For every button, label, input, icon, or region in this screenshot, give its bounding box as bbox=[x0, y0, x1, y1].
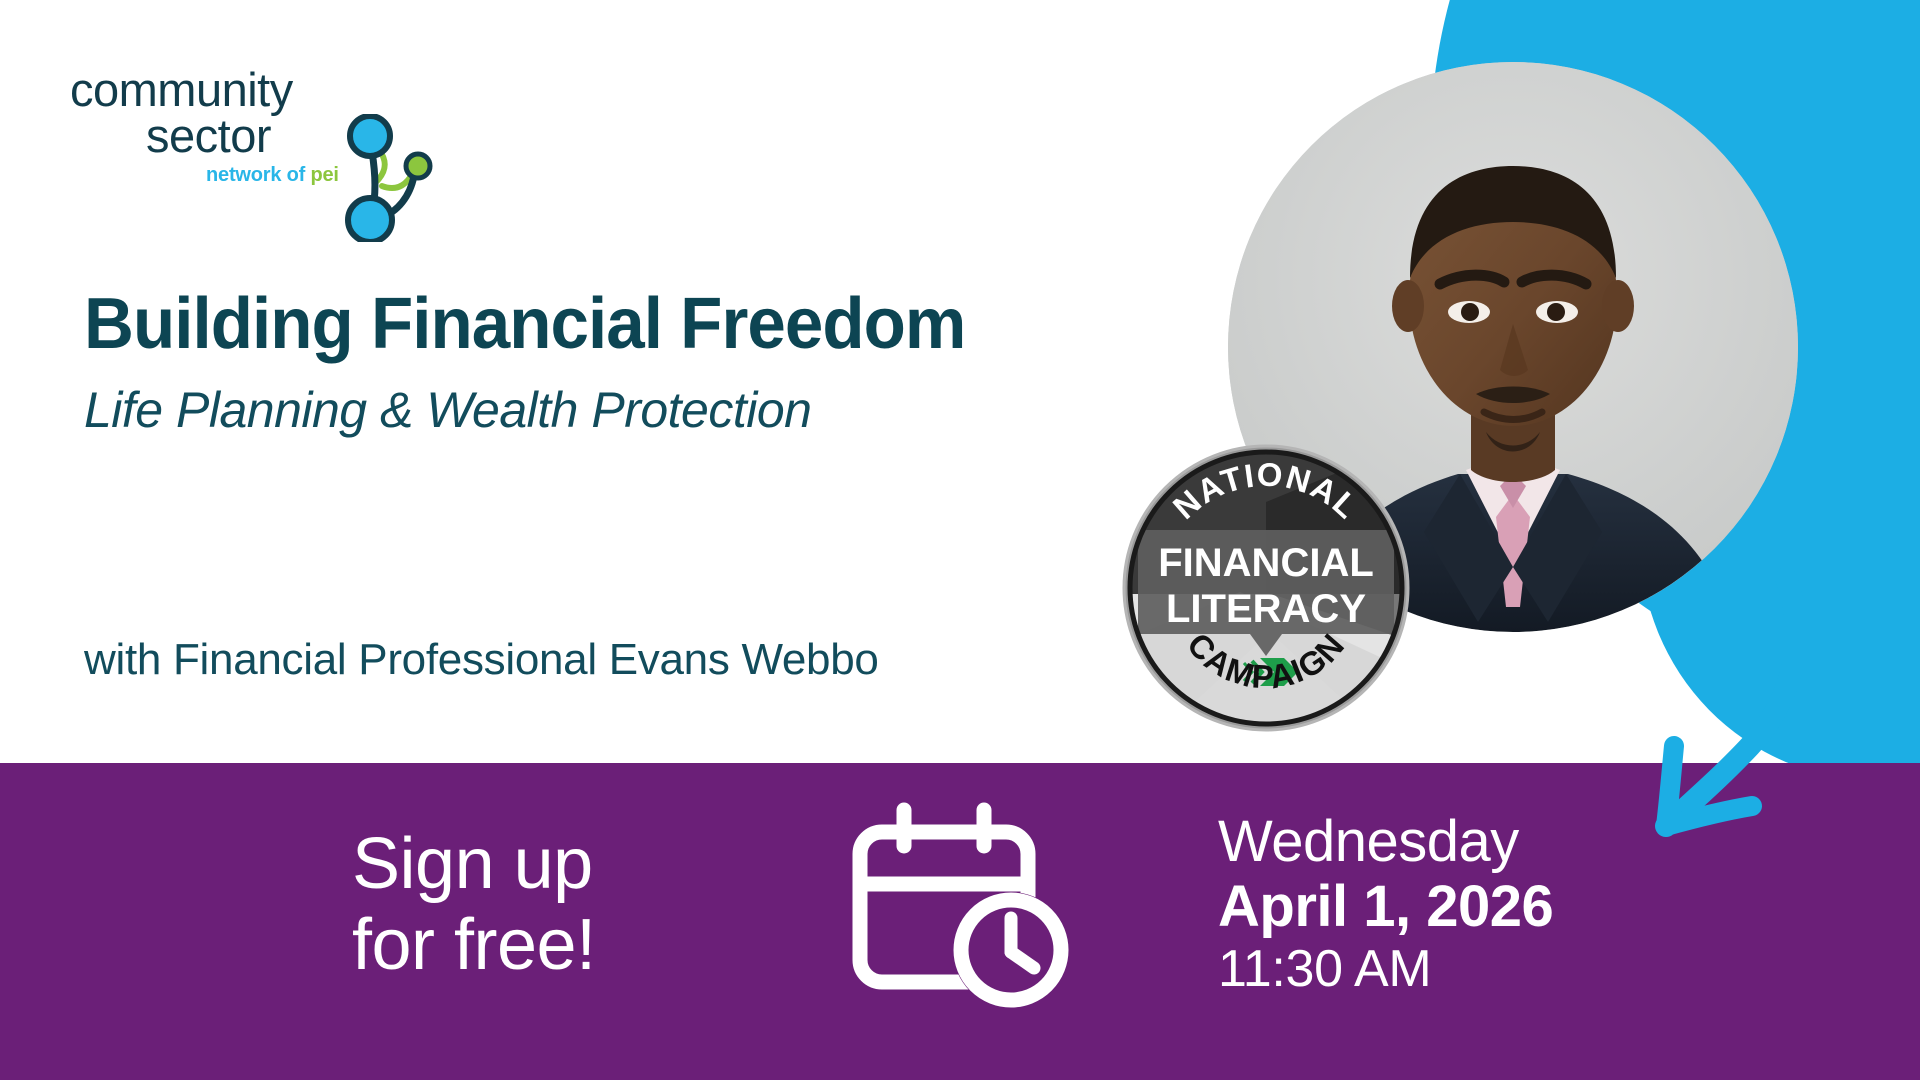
page-subtitle: Life Planning & Wealth Protection bbox=[84, 385, 811, 435]
page-title: Building Financial Freedom bbox=[84, 288, 965, 360]
logo-tagline: network of pei bbox=[206, 164, 339, 187]
event-promo-poster: community sector network of pei Building… bbox=[0, 0, 1920, 1080]
signup-cta-line1: Sign up bbox=[352, 824, 596, 905]
connected-nodes-icon bbox=[342, 114, 442, 247]
signup-cta-line2: for free! bbox=[352, 905, 596, 986]
badge-center-line1: FINANCIAL bbox=[1158, 541, 1374, 585]
organization-logo: community sector network of pei bbox=[66, 52, 446, 202]
event-datetime: Wednesday April 1, 2026 11:30 AM bbox=[1218, 810, 1553, 998]
logo-tagline-network: network of bbox=[206, 164, 310, 186]
event-time: 11:30 AM bbox=[1218, 940, 1553, 998]
presenter-line: with Financial Professional Evans Webbo bbox=[84, 638, 879, 682]
curved-arrow-down-left-icon bbox=[1600, 560, 1920, 865]
calendar-clock-icon bbox=[848, 800, 1078, 1020]
event-day: Wednesday bbox=[1218, 810, 1553, 875]
logo-line-sector: sector bbox=[146, 108, 271, 163]
badge-center-line2: LITERACY bbox=[1166, 587, 1366, 631]
logo-tagline-pei: pei bbox=[310, 164, 338, 186]
signup-cta: Sign up for free! bbox=[352, 824, 596, 987]
event-date: April 1, 2026 bbox=[1218, 875, 1553, 940]
national-financial-literacy-badge: NATIONAL FINANCIAL LITERACY CAMPAIGN bbox=[1120, 442, 1412, 734]
